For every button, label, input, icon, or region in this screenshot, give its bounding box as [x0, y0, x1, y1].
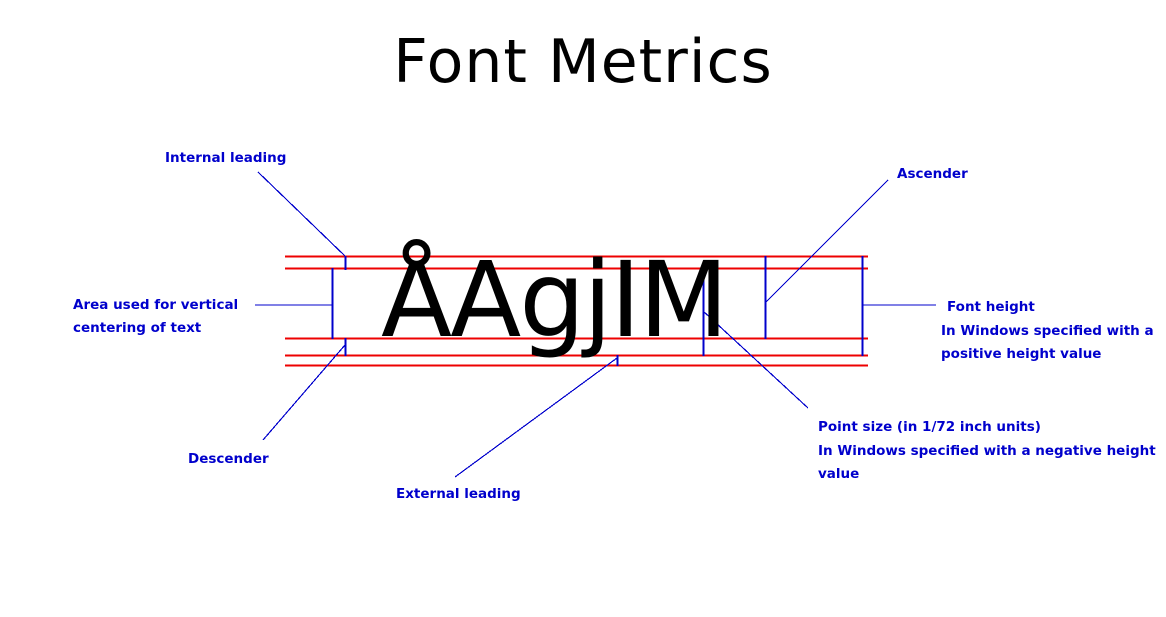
- leader-ascender-leader: [765, 180, 888, 303]
- annotation-line: Internal leading: [165, 147, 286, 170]
- annotation-label-descender: Descender: [188, 448, 269, 471]
- annotation-label-point-size-note: In Windows specified with a negative hei…: [818, 440, 1156, 486]
- annotation-line: In Windows specified with a negative hei…: [818, 440, 1156, 463]
- annotation-label-point-size: Point size (in 1/72 inch units): [818, 416, 1041, 439]
- annotation-line: Ascender: [897, 163, 968, 186]
- annotation-line: Area used for vertical: [73, 294, 238, 317]
- annotation-line: centering of text: [73, 317, 238, 340]
- annotation-line: Descender: [188, 448, 269, 471]
- annotation-label-font-height-note: In Windows specified with apositive heig…: [941, 320, 1154, 366]
- annotation-line: positive height value: [941, 343, 1154, 366]
- annotation-label-internal-leading: Internal leading: [165, 147, 286, 170]
- leader-internal-leading-leader: [258, 172, 345, 256]
- annotation-label-external-leading: External leading: [396, 483, 521, 506]
- annotation-line: External leading: [396, 483, 521, 506]
- annotation-label-ascender: Ascender: [897, 163, 968, 186]
- leader-external-leading-leader: [455, 358, 617, 477]
- diagram-canvas: Font Metrics ÅAgjIM Internal leadingAsce…: [0, 0, 1166, 617]
- annotation-line: In Windows specified with a: [941, 320, 1154, 343]
- annotation-label-font-height: Font height: [947, 296, 1035, 319]
- leader-descender-leader: [263, 345, 345, 440]
- annotation-line: Font height: [947, 296, 1035, 319]
- annotation-line: Point size (in 1/72 inch units): [818, 416, 1041, 439]
- annotation-label-vertical-centering: Area used for verticalcentering of text: [73, 294, 238, 340]
- annotation-line: value: [818, 463, 1156, 486]
- sample-glyph-string: ÅAgjIM: [381, 248, 727, 352]
